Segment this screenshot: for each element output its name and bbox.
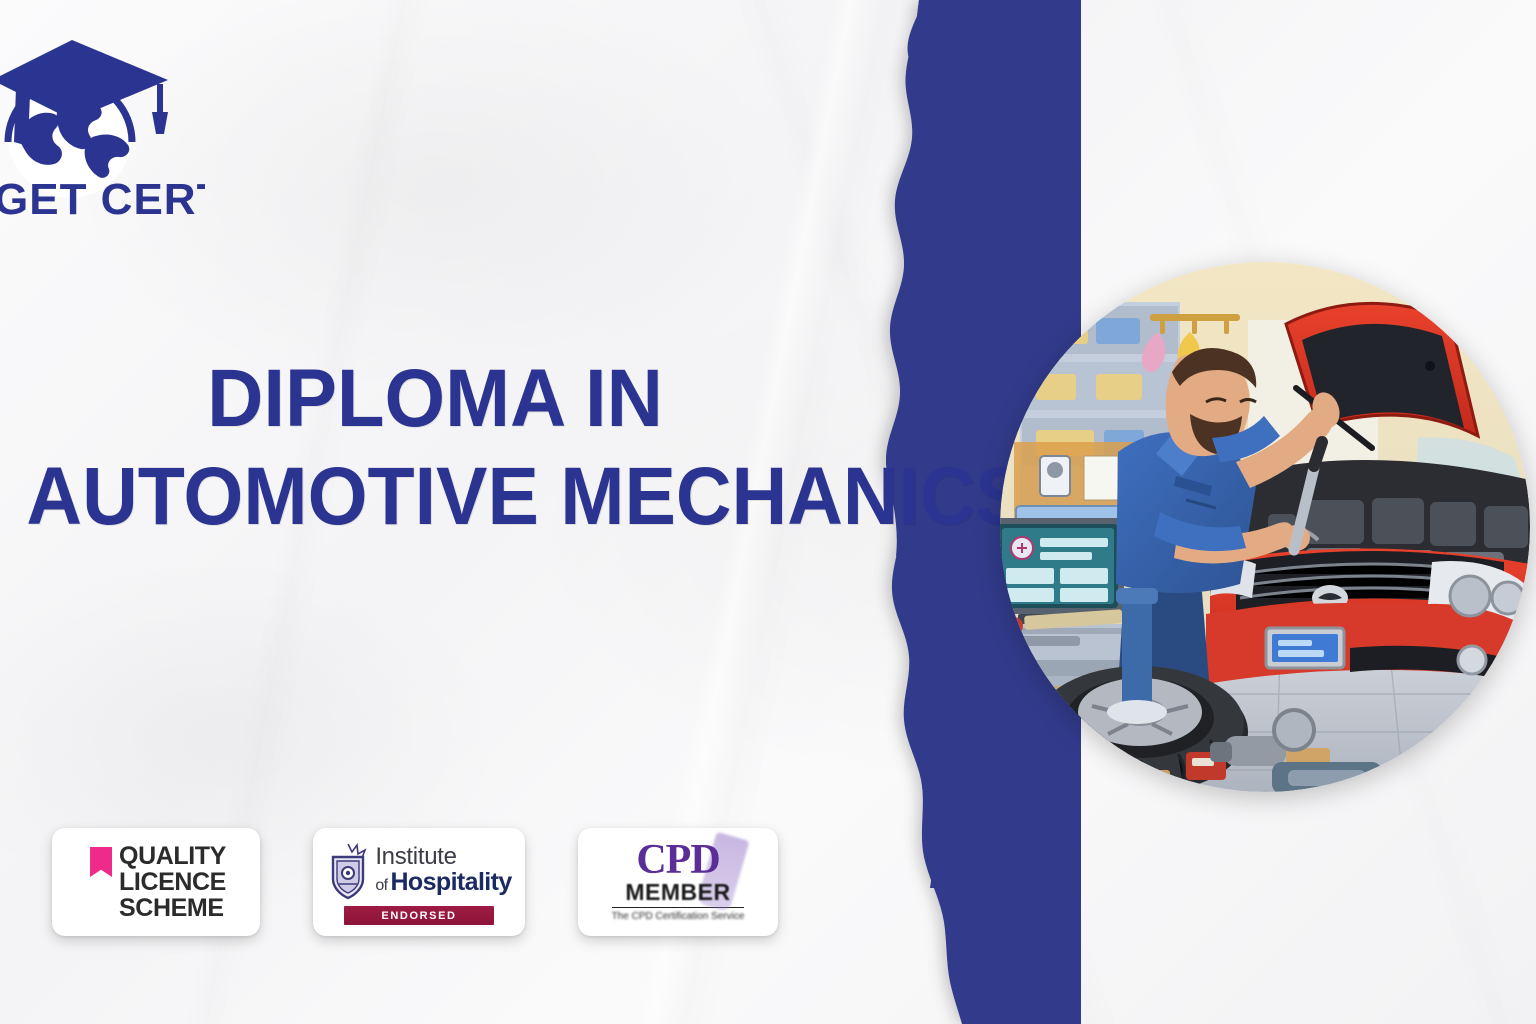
title-line-1: DIPLOMA IN <box>12 358 858 440</box>
bookmark-icon <box>90 847 112 877</box>
badge-institute-of-hospitality[interactable]: Institute ofHospitality ENDORSED <box>313 828 525 936</box>
heraldic-crest-icon <box>326 840 370 900</box>
title-line-2: AUTOMOTIVE MECHANICS <box>26 456 853 538</box>
qls-line-3: SCHEME <box>119 895 226 921</box>
page-title: DIPLOMA IN AUTOMOTIVE MECHANICS <box>0 358 880 538</box>
badge-quality-licence-scheme[interactable]: QUALITY LICENCE SCHEME <box>52 828 260 936</box>
course-promo-poster: GET CERTIFY DIPLOMA IN AUTOMOTIVE MECHAN… <box>0 0 1536 1024</box>
cpd-member-text: MEMBER <box>625 879 730 906</box>
brand-logo-text: GET CERTIFY <box>0 175 205 224</box>
qls-line-1: QUALITY <box>119 843 226 869</box>
cpd-mark-text: CPD <box>636 841 719 881</box>
ioh-word-of: of <box>375 877 387 894</box>
ioh-word-institute: Institute <box>375 845 511 869</box>
ioh-endorsed-ribbon: ENDORSED <box>344 906 494 925</box>
badge-cpd-member[interactable]: CPD MEMBER The CPD Certification Service <box>578 828 778 936</box>
brand-logo[interactable]: GET CERTIFY <box>0 18 205 236</box>
accreditation-badges: QUALITY LICENCE SCHEME <box>52 828 778 936</box>
cpd-subtitle: The CPD Certification Service <box>603 911 753 923</box>
course-hero-image <box>1000 262 1530 792</box>
ioh-word-hospitality: Hospitality <box>390 868 511 896</box>
qls-line-2: LICENCE <box>119 869 226 895</box>
